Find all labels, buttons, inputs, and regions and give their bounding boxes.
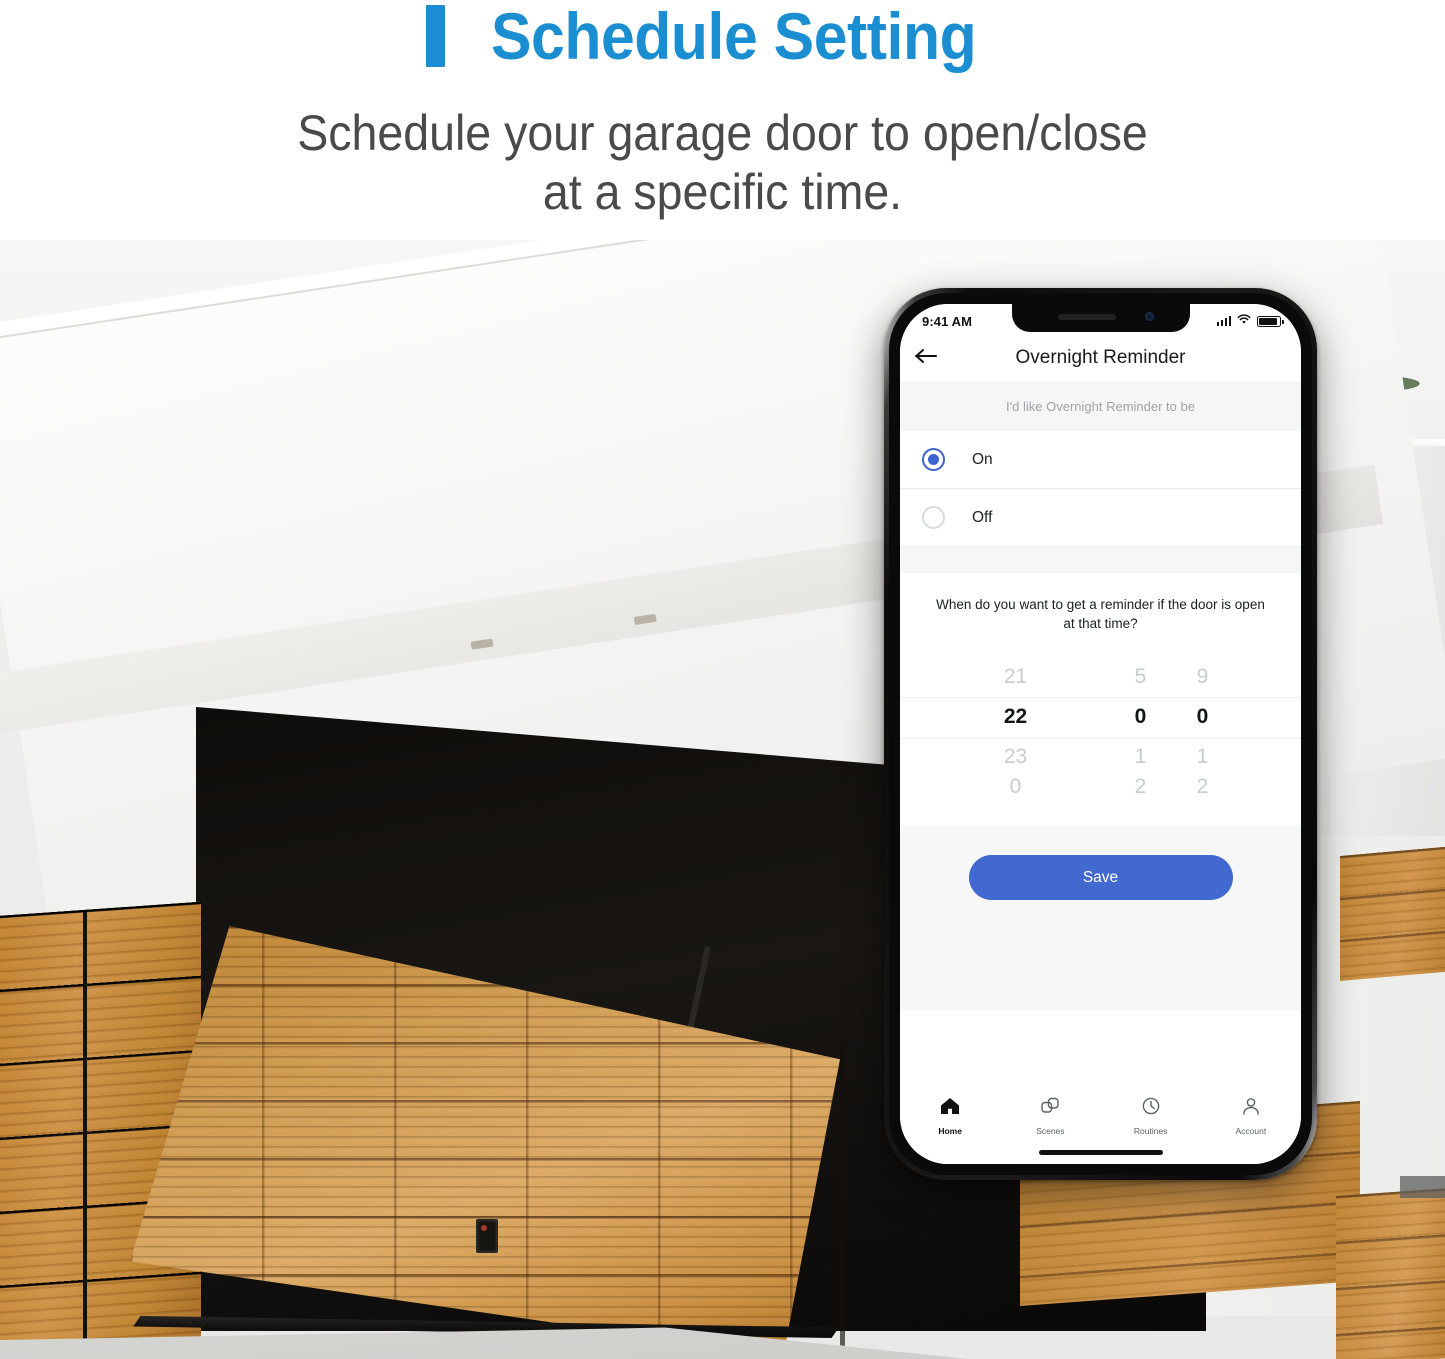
page-subtitle: Schedule your garage door to open/close … <box>0 104 1445 222</box>
wood-cladding-seam <box>83 912 87 1359</box>
picker-cell[interactable]: 23 <box>1004 737 1027 777</box>
recessed-light-1 <box>471 638 494 649</box>
picker-column-hour[interactable]: 21 22 23 0 <box>968 657 1064 803</box>
phone-mockup: 9:41 AM Overnight Reminder I'd like Over… <box>884 288 1317 1180</box>
home-icon <box>939 1096 961 1121</box>
shrubs <box>1320 1354 1445 1359</box>
picker-cell[interactable]: 2 <box>1135 777 1147 803</box>
accent-bar-icon <box>426 5 445 67</box>
nav-bar: Overnight Reminder <box>900 334 1301 382</box>
content-filler <box>900 940 1301 1010</box>
back-arrow-icon <box>914 348 938 369</box>
picker-cell[interactable]: 2 <box>1197 777 1209 803</box>
save-section: Save <box>900 825 1301 940</box>
tab-label-account: Account <box>1236 1126 1267 1136</box>
status-time: 9:41 AM <box>922 314 972 329</box>
wood-panel-lower-right <box>1336 1188 1445 1359</box>
status-icons <box>1217 312 1282 330</box>
tab-label-scenes: Scenes <box>1036 1126 1064 1136</box>
section-hint: I'd like Overnight Reminder to be <box>900 382 1301 431</box>
option-row-on[interactable]: On <box>900 431 1301 489</box>
option-label-off: Off <box>972 509 992 527</box>
small-window <box>1400 1176 1445 1198</box>
picker-cell-selected[interactable]: 22 <box>1004 697 1027 737</box>
picker-cell[interactable]: 1 <box>1197 737 1209 777</box>
page-title: Schedule Setting <box>491 0 976 74</box>
person-icon <box>1240 1096 1262 1121</box>
back-button[interactable] <box>900 334 952 382</box>
save-button[interactable]: Save <box>969 855 1233 900</box>
question-text: When do you want to get a reminder if th… <box>900 573 1301 639</box>
page-title-row: Schedule Setting <box>0 0 1445 74</box>
picker-cell[interactable]: 0 <box>1010 777 1022 803</box>
picker-cell-selected[interactable]: 0 <box>1135 697 1147 737</box>
radio-on-icon[interactable] <box>922 448 945 471</box>
tab-routines[interactable]: Routines <box>1101 1096 1201 1136</box>
tab-home[interactable]: Home <box>900 1096 1000 1136</box>
tab-scenes[interactable]: Scenes <box>1000 1096 1100 1136</box>
phone-notch <box>1012 304 1190 332</box>
option-label-on: On <box>972 451 993 469</box>
nav-title: Overnight Reminder <box>952 347 1249 369</box>
recessed-light-2 <box>634 614 657 625</box>
page-subtitle-line1: Schedule your garage door to open/close <box>51 104 1395 163</box>
home-indicator[interactable] <box>1039 1150 1163 1155</box>
section-divider <box>900 547 1301 573</box>
scenes-icon <box>1039 1096 1061 1121</box>
tab-label-home: Home <box>938 1126 962 1136</box>
page-subtitle-line2: at a specific time. <box>51 163 1395 222</box>
picker-cell-selected[interactable]: 0 <box>1197 697 1209 737</box>
picker-column-minute-tens[interactable]: 5 0 1 2 <box>1110 657 1172 803</box>
signal-bars-icon <box>1217 316 1232 326</box>
earpiece-speaker <box>1058 314 1116 320</box>
radio-off-icon[interactable] <box>922 506 945 529</box>
picker-column-minute-ones[interactable]: 9 0 1 2 <box>1172 657 1234 803</box>
wood-panel-upper-right <box>1340 847 1445 981</box>
time-picker[interactable]: 21 22 23 0 5 0 1 2 9 0 1 <box>900 651 1301 811</box>
phone-screen: 9:41 AM Overnight Reminder I'd like Over… <box>900 304 1301 1164</box>
option-row-off[interactable]: Off <box>900 489 1301 547</box>
picker-cell[interactable]: 5 <box>1135 657 1147 697</box>
front-camera-icon <box>1145 312 1154 321</box>
screen-content: I'd like Overnight Reminder to be On Off… <box>900 382 1301 1087</box>
picker-columns: 21 22 23 0 5 0 1 2 9 0 1 <box>900 651 1301 811</box>
tab-account[interactable]: Account <box>1201 1096 1301 1136</box>
wifi-icon <box>1237 312 1251 330</box>
tab-label-routines: Routines <box>1134 1126 1168 1136</box>
picker-cell[interactable]: 21 <box>1004 657 1027 697</box>
battery-icon <box>1257 316 1281 327</box>
garage-door-handle <box>476 1219 498 1253</box>
picker-cell[interactable]: 9 <box>1197 657 1209 697</box>
clock-icon <box>1140 1096 1162 1121</box>
headline-block: Schedule Setting Schedule your garage do… <box>0 0 1445 240</box>
picker-cell[interactable]: 1 <box>1135 737 1147 777</box>
